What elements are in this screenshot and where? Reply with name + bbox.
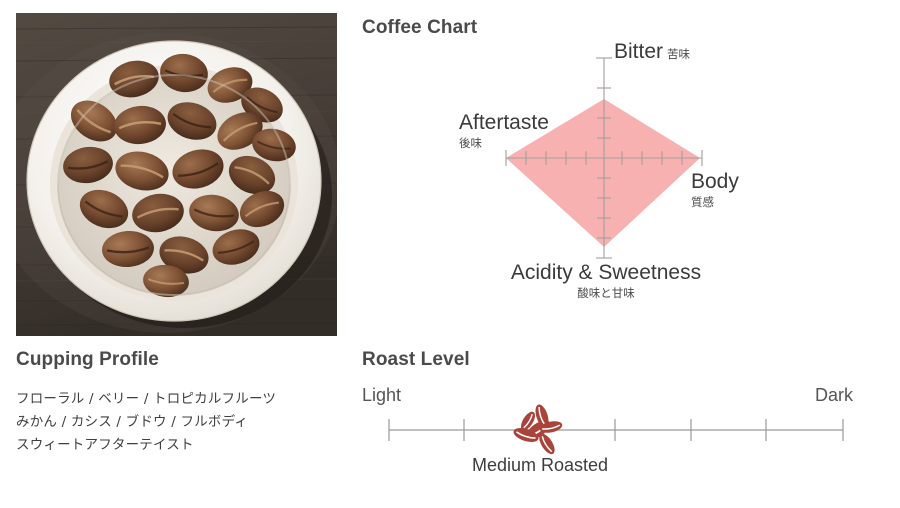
radar-label-bitter: Bitter苦味	[614, 40, 690, 64]
roast-scale-axis	[389, 419, 843, 441]
radar-label-acidity-jp: 酸味と甘味	[506, 285, 706, 301]
roast-current-level-label: Medium Roasted	[440, 455, 640, 476]
radar-label-acidity-en: Acidity & Sweetness	[511, 261, 701, 284]
radar-label-aftertaste-jp: 後味	[459, 135, 549, 151]
radar-label-bitter-en: Bitter	[614, 40, 663, 63]
radar-label-body: Body 質感	[691, 170, 739, 210]
radar-label-bitter-jp: 苦味	[667, 47, 690, 61]
cupping-note-line: スウィートアフターテイスト	[16, 434, 276, 457]
radar-label-body-en: Body	[691, 170, 739, 193]
coffee-beans-photo	[16, 13, 337, 336]
coffee-bean-cluster-icon	[512, 403, 564, 457]
radar-label-body-jp: 質感	[691, 194, 739, 210]
coffee-spec-sheet: Coffee Chart Cupping Profile Roast Level…	[0, 0, 900, 508]
roast-label-light: Light	[362, 385, 401, 406]
cupping-note-line: みかん / カシス / ブドウ / フルボディ	[16, 411, 276, 434]
cupping-profile-notes: フローラル / ベリー / トロピカルフルーツ みかん / カシス / ブドウ …	[16, 388, 276, 457]
radar-label-acidity-sweetness: Acidity & Sweetness 酸味と甘味	[506, 261, 706, 301]
radar-label-aftertaste-en: Aftertaste	[459, 111, 549, 134]
cupping-note-line: フローラル / ベリー / トロピカルフルーツ	[16, 388, 276, 411]
roast-level-title: Roast Level	[362, 349, 470, 371]
radar-label-aftertaste: Aftertaste 後味	[459, 111, 549, 151]
roast-label-dark: Dark	[815, 385, 853, 406]
cupping-profile-title: Cupping Profile	[16, 349, 159, 371]
